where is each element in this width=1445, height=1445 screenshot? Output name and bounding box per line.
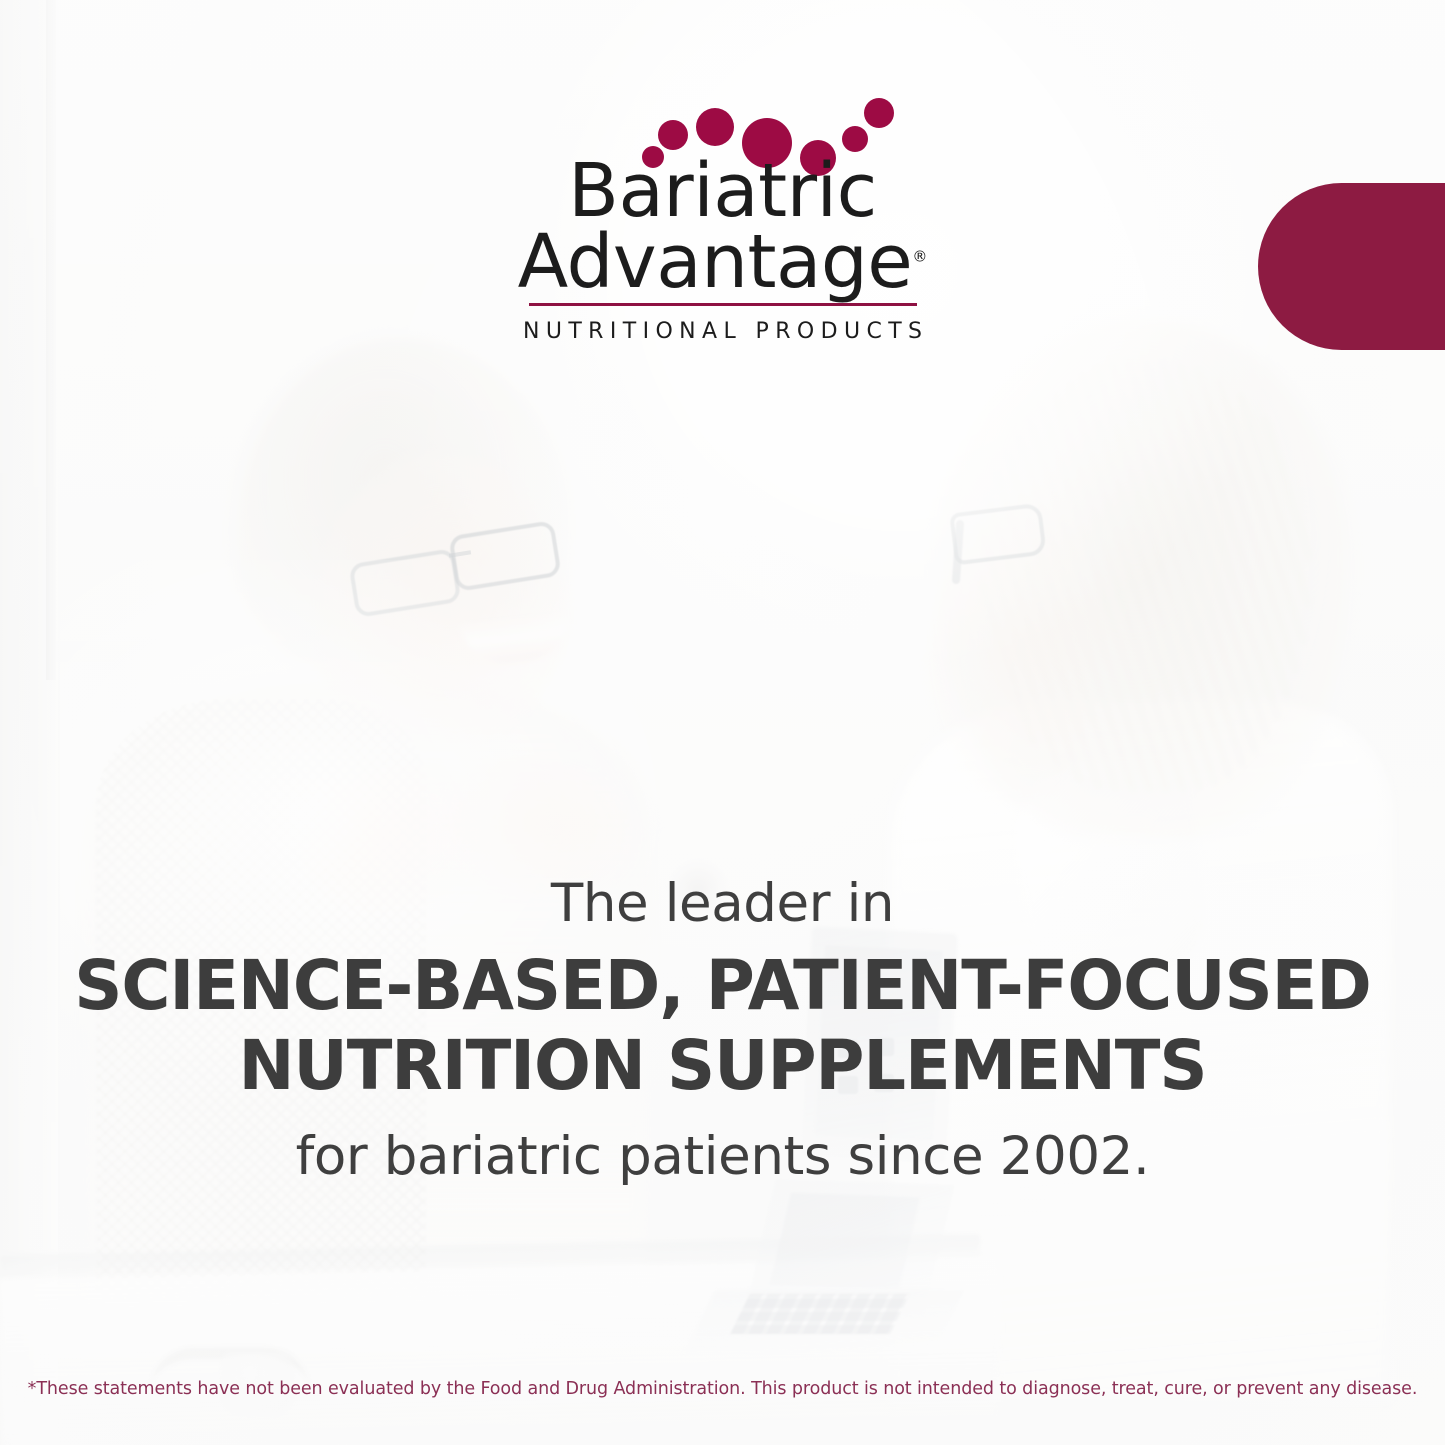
logo-wordmark-line2: Advantage® [518, 227, 928, 298]
registered-trademark-icon: ® [912, 247, 927, 265]
logo-wordmark-advantage: Advantage [518, 219, 913, 305]
logo-wordmark-line1: Bariatric [568, 156, 877, 227]
headline-main-line2: NUTRITION SUPPLEMENTS [22, 1026, 1424, 1106]
headline-tail: for bariatric patients since 2002. [0, 1126, 1445, 1187]
fda-disclaimer: *These statements have not been evaluate… [0, 1379, 1445, 1399]
headline-block: The leader in SCIENCE-BASED, PATIENT-FOC… [0, 876, 1445, 1187]
promo-canvas: Bariatric Advantage® NUTRITIONAL PRODUCT… [0, 0, 1445, 1445]
headline-eyebrow: The leader in [0, 876, 1445, 932]
headline-main-line1: SCIENCE-BASED, PATIENT-FOCUSED [22, 946, 1424, 1026]
logo-tagline: NUTRITIONAL PRODUCTS [517, 319, 929, 344]
brand-logo: Bariatric Advantage® NUTRITIONAL PRODUCT… [0, 104, 1445, 344]
